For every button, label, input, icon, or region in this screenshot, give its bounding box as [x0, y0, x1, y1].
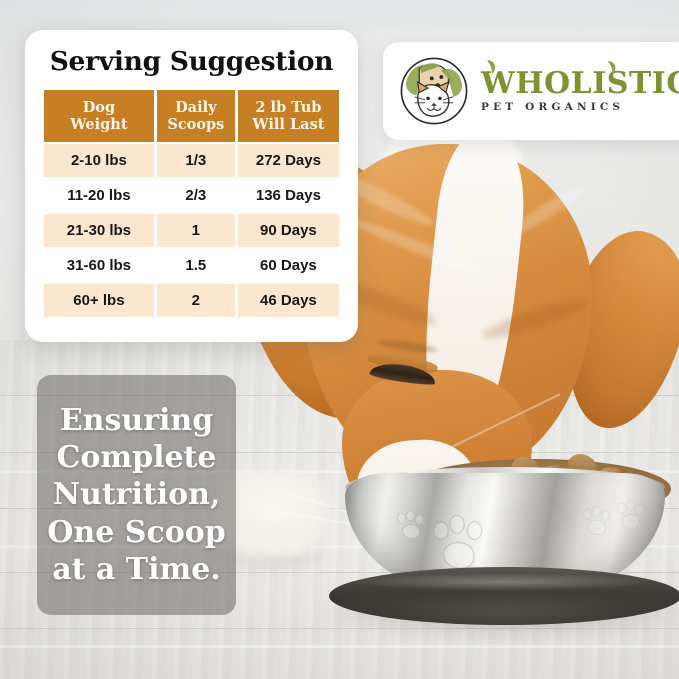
cell-duration: 90 Days [238, 214, 339, 247]
column-header-dog-weight: Dog Weight [44, 90, 154, 142]
leaf-sprout-icon [485, 58, 499, 74]
serving-table: Dog Weight Daily Scoops 2 lb Tub Will La… [41, 88, 342, 319]
cell-dog-weight: 31-60 lbs [44, 249, 154, 282]
cell-duration: 46 Days [238, 284, 339, 317]
table-row: 31-60 lbs 1.5 60 Days [44, 249, 339, 282]
table-row: 2-10 lbs 1/3 272 Days [44, 144, 339, 177]
dog-and-cat-circle-emblem-icon [397, 54, 471, 128]
cell-daily-scoops: 1.5 [157, 249, 235, 282]
table-row: 21-30 lbs 1 90 Days [44, 214, 339, 247]
tagline-line: Ensuring [45, 402, 228, 439]
brand-tagline-text: PET ORGANICS [481, 102, 679, 113]
cell-duration: 60 Days [238, 249, 339, 282]
serving-suggestion-card: Serving Suggestion Dog Weight Daily Scoo… [25, 30, 358, 342]
cell-dog-weight: 21-30 lbs [44, 214, 154, 247]
page-title: Serving Suggestion [41, 48, 342, 76]
brand-name-text: WHOLISTIC [481, 66, 679, 101]
cell-duration: 272 Days [238, 144, 339, 177]
cell-dog-weight: 60+ lbs [44, 284, 154, 317]
tagline-line: at a Time. [45, 551, 228, 588]
brand-wordmark: WHOLISTIC® PET ORGANICS [481, 69, 679, 113]
cell-daily-scoops: 2 [157, 284, 235, 317]
table-header-row: Dog Weight Daily Scoops 2 lb Tub Will La… [44, 90, 339, 142]
tagline-panel: Ensuring Complete Nutrition, One Scoop a… [37, 375, 236, 615]
product-lifestyle-image: Serving Suggestion Dog Weight Daily Scoo… [0, 0, 679, 679]
cell-duration: 136 Days [238, 179, 339, 212]
cell-daily-scoops: 1 [157, 214, 235, 247]
column-header-tub-duration: 2 lb Tub Will Last [238, 90, 339, 142]
cell-daily-scoops: 1/3 [157, 144, 235, 177]
brand-logo-panel: WHOLISTIC® PET ORGANICS [383, 42, 679, 140]
tagline-line: Complete [45, 439, 228, 476]
column-header-daily-scoops: Daily Scoops [157, 90, 235, 142]
table-row: 11-20 lbs 2/3 136 Days [44, 179, 339, 212]
table-row: 60+ lbs 2 46 Days [44, 284, 339, 317]
cell-dog-weight: 11-20 lbs [44, 179, 154, 212]
brand-name: WHOLISTIC® [481, 69, 679, 99]
leaf-sprout-icon [606, 59, 619, 74]
tagline-line: Nutrition, [45, 476, 228, 513]
cell-daily-scoops: 2/3 [157, 179, 235, 212]
cell-dog-weight: 2-10 lbs [44, 144, 154, 177]
tagline-line: One Scoop [45, 514, 228, 551]
